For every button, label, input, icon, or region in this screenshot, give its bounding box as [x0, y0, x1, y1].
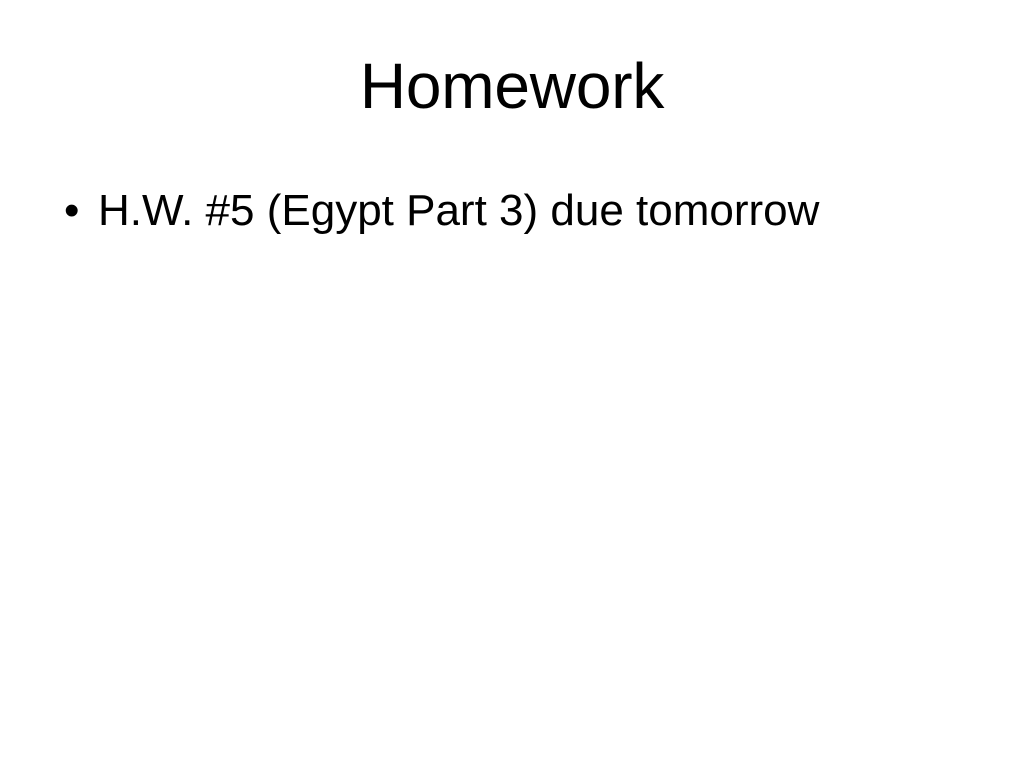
list-item-label: H.W. #5 (Egypt Part 3) due tomorrow [98, 186, 819, 235]
slide-body-container: • H.W. #5 (Egypt Part 3) due tomorrow [56, 185, 968, 243]
page-title: Homework [360, 52, 664, 121]
bullet-list: • H.W. #5 (Egypt Part 3) due tomorrow [56, 185, 968, 237]
bullet-dot-icon: • [64, 185, 86, 237]
slide-title-container: Homework [0, 52, 1024, 121]
list-item: • H.W. #5 (Egypt Part 3) due tomorrow [56, 185, 968, 237]
presentation-slide: Homework • H.W. #5 (Egypt Part 3) due to… [0, 0, 1024, 768]
